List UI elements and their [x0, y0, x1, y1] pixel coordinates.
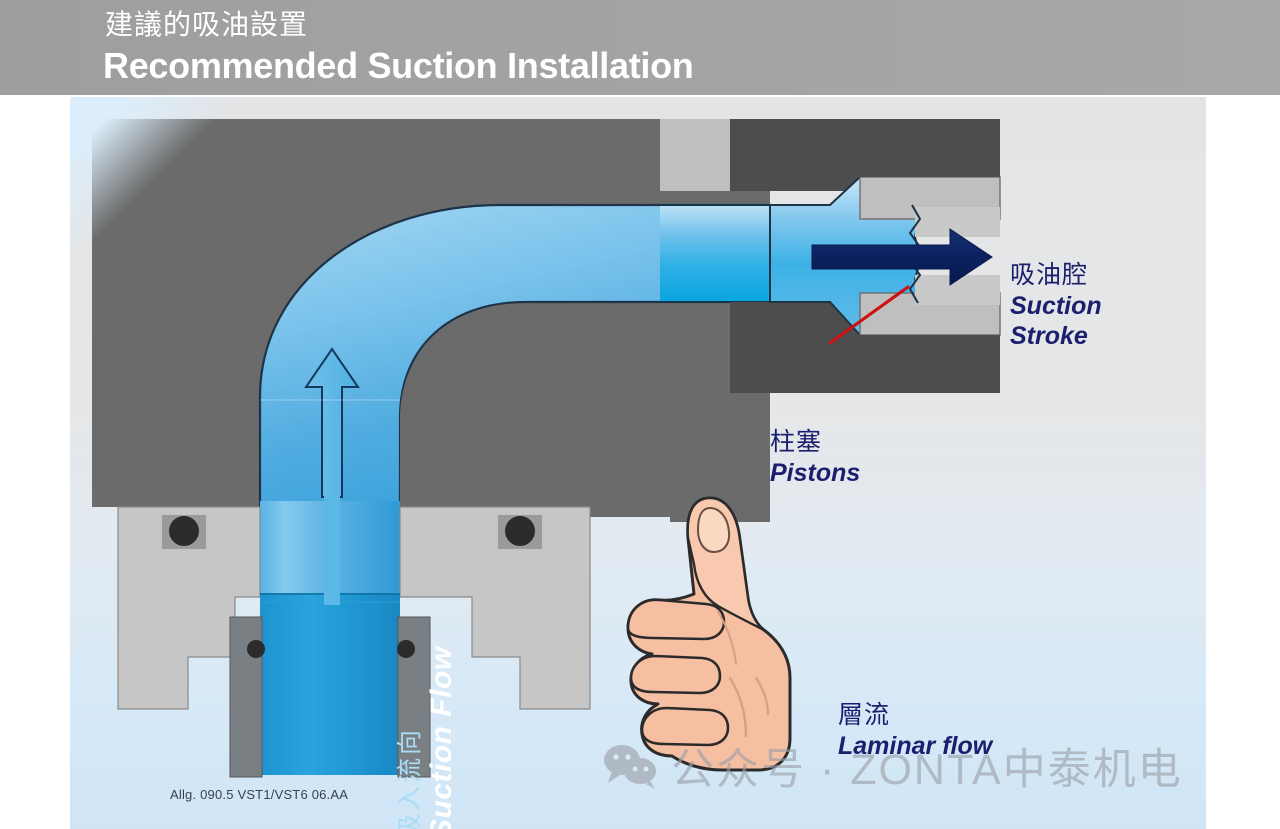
label-pistons: 柱塞 Pistons — [770, 427, 860, 488]
fluid-horizontal-duct — [660, 205, 780, 302]
thumbs-up-illustration — [598, 482, 808, 782]
label-suction-stroke-en-2: Stroke — [1010, 321, 1102, 352]
suction-flow-label-english: Suction Flow — [425, 646, 459, 829]
label-pistons-cn: 柱塞 — [770, 427, 860, 458]
label-laminar-flow-en: Laminar flow — [838, 731, 992, 762]
o-ring-left — [247, 640, 265, 658]
bolt-left — [169, 516, 199, 546]
slide-header: 建議的吸油設置 Recommended Suction Installation — [0, 0, 1280, 95]
page-title-chinese: 建議的吸油設置 — [105, 10, 308, 41]
suction-flow-label-chinese: 吸入流向 — [390, 727, 426, 829]
bolt-right — [505, 516, 535, 546]
label-suction-stroke-en-1: Suction — [1010, 291, 1102, 322]
label-laminar-flow: 層流 Laminar flow — [838, 700, 992, 761]
label-suction-stroke: 吸油腔 Suction Stroke — [1010, 260, 1102, 352]
fluid-lower-pipe — [260, 593, 400, 775]
housing-light-upper — [660, 119, 730, 191]
label-laminar-flow-cn: 層流 — [838, 700, 992, 731]
slide-content-area: Suction Flow 吸入流向 Allg. 090.5 VST1/VST6 … — [70, 97, 1206, 829]
page-title-english: Recommended Suction Installation — [103, 48, 693, 84]
label-suction-stroke-cn: 吸油腔 — [1010, 260, 1102, 291]
drawing-reference-code: Allg. 090.5 VST1/VST6 06.AA — [170, 787, 348, 802]
o-ring-right — [397, 640, 415, 658]
